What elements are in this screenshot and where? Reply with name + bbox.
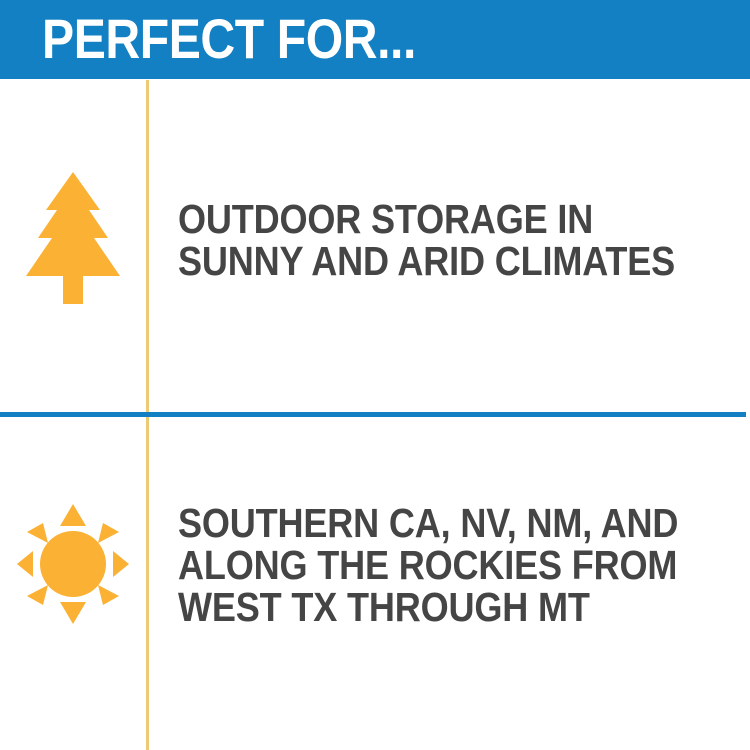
sun-icon	[17, 504, 129, 624]
page-title: PERFECT FOR...	[42, 10, 477, 66]
text-cell-outdoor-storage: OUTDOOR STORAGE IN SUNNY AND ARID CLIMAT…	[146, 80, 750, 412]
headline-line: SOUTHERN CA, NV, NM, AND	[178, 502, 750, 544]
headline-line: WEST TX THROUGH MT	[178, 586, 750, 628]
headline-outdoor-storage: OUTDOOR STORAGE IN SUNNY AND ARID CLIMAT…	[178, 198, 750, 282]
text-cell-regions: SOUTHERN CA, NV, NM, AND ALONG THE ROCKI…	[146, 417, 750, 750]
infographic-page: PERFECT FOR... OUTDOOR STORAGE IN SUNNY …	[0, 0, 750, 750]
pine-tree-icon	[26, 172, 120, 304]
headline-line: ALONG THE ROCKIES FROM	[178, 544, 750, 586]
headline-line: SUNNY AND ARID CLIMATES	[178, 240, 750, 282]
headline-line: OUTDOOR STORAGE IN	[178, 198, 750, 240]
icon-cell-sun	[0, 417, 146, 750]
page-title-text: PERFECT FOR...	[42, 10, 416, 66]
feature-row-regions: SOUTHERN CA, NV, NM, AND ALONG THE ROCKI…	[0, 417, 750, 750]
icon-cell-tree	[0, 80, 146, 412]
header-band: PERFECT FOR...	[0, 0, 750, 79]
headline-regions: SOUTHERN CA, NV, NM, AND ALONG THE ROCKI…	[178, 502, 750, 628]
feature-row-outdoor-storage: OUTDOOR STORAGE IN SUNNY AND ARID CLIMAT…	[0, 80, 750, 412]
